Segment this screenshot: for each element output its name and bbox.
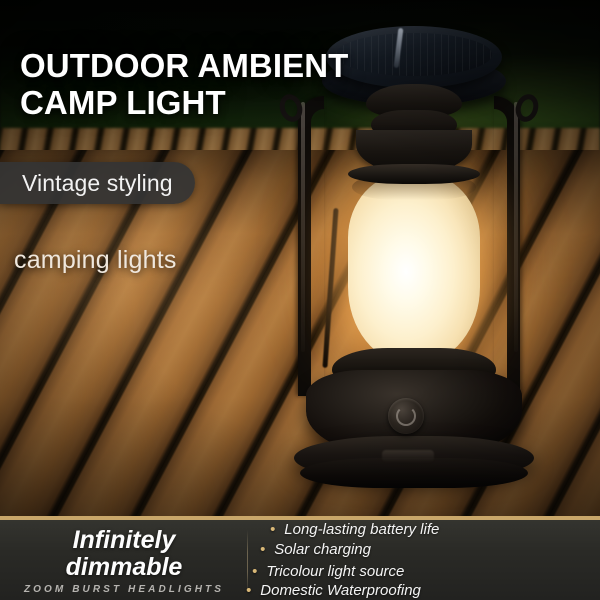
feature-label: Solar charging xyxy=(274,540,371,559)
list-item: • Solar charging xyxy=(260,540,594,559)
lantern-handle-right-highlight xyxy=(514,102,518,352)
bottom-bar-subtitle: ZOOM BURST HEADLIGHTS xyxy=(24,584,224,595)
feature-list: • Long-lasting battery life • Solar char… xyxy=(248,520,600,600)
feature-label: Tricolour light source xyxy=(266,562,404,581)
bottom-bar-headline-block: Infinitely dimmable ZOOM BURST HEADLIGHT… xyxy=(0,520,248,600)
list-item: • Tricolour light source xyxy=(252,562,594,581)
bottom-feature-bar: Infinitely dimmable ZOOM BURST HEADLIGHT… xyxy=(0,516,600,600)
bullet-icon: • xyxy=(270,522,275,537)
vintage-styling-badge-label: Vintage styling xyxy=(22,170,173,197)
bullet-icon: • xyxy=(260,542,265,557)
list-item: • Domestic Waterproofing xyxy=(246,581,594,600)
power-icon xyxy=(396,406,416,426)
headline-line-1: OUTDOOR AMBIENT xyxy=(20,47,348,84)
bullet-icon: • xyxy=(252,564,257,579)
advertisement-banner: OUTDOOR AMBIENT CAMP LIGHT Vintage styli… xyxy=(0,0,600,600)
lantern-brand-emboss xyxy=(382,450,434,462)
bottom-bar-title: Infinitely dimmable xyxy=(66,527,183,580)
bottom-bar-title-line-1: Infinitely xyxy=(66,527,183,554)
lantern-handle-left-highlight xyxy=(301,102,305,352)
lantern-neck-lip xyxy=(348,164,480,184)
vintage-styling-badge: Vintage styling xyxy=(0,162,195,204)
headline-line-2: CAMP LIGHT xyxy=(20,85,420,122)
bullet-icon: • xyxy=(246,583,251,598)
lantern-glass-globe xyxy=(348,173,480,363)
feature-label: Long-lasting battery life xyxy=(284,520,439,539)
list-item: • Long-lasting battery life xyxy=(270,520,594,539)
bottom-bar-title-line-2: dimmable xyxy=(66,554,183,581)
headline: OUTDOOR AMBIENT CAMP LIGHT xyxy=(20,48,420,122)
category-subtext: camping lights xyxy=(14,246,177,275)
feature-label: Domestic Waterproofing xyxy=(260,581,421,600)
lantern-base-foot xyxy=(300,458,528,488)
